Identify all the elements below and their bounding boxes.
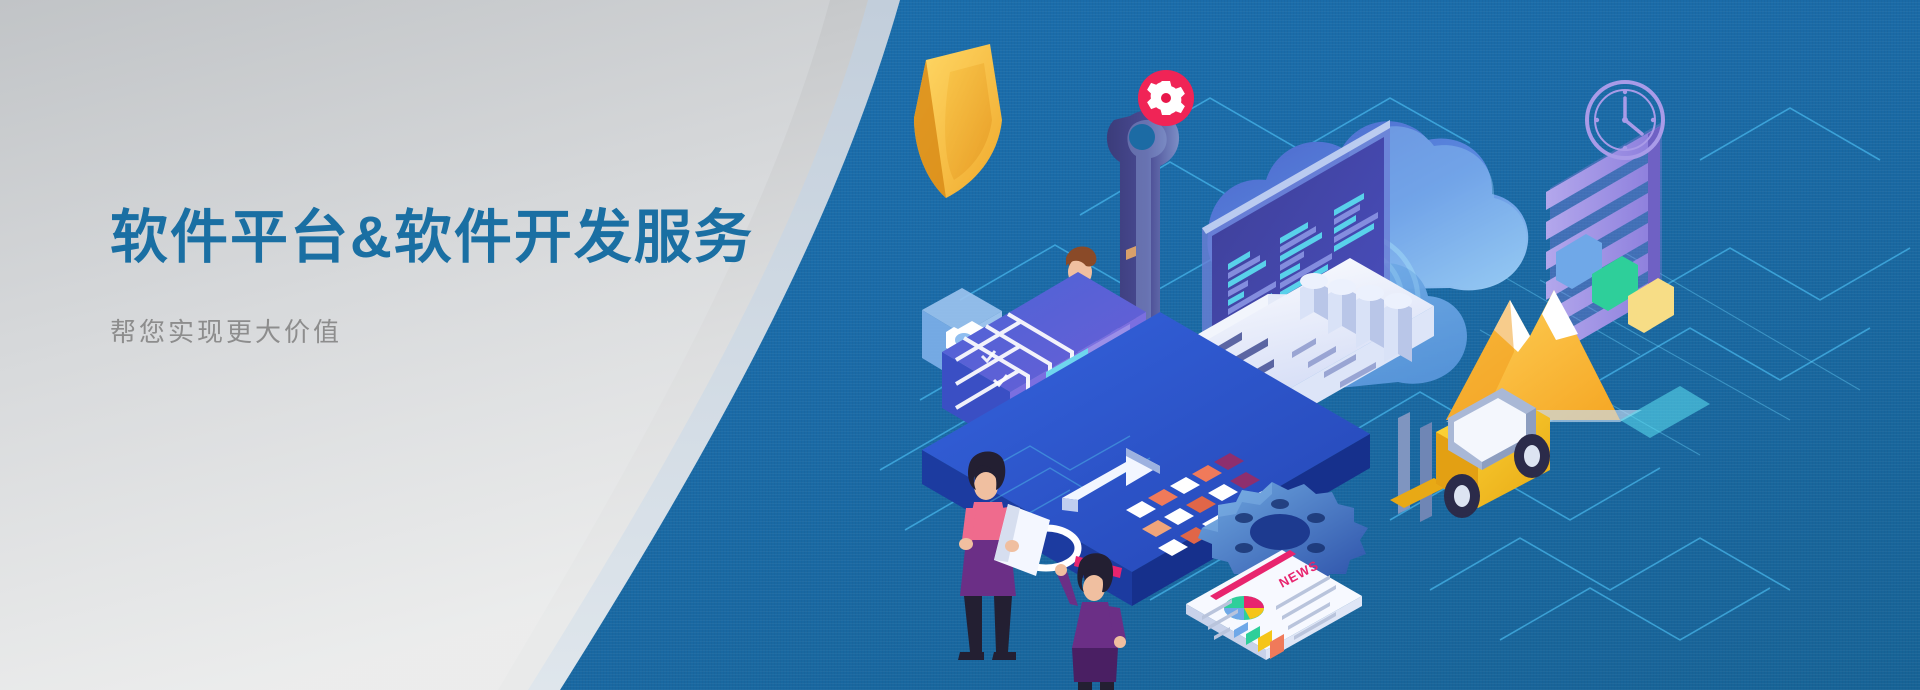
hero-text-block: 软件平台&软件开发服务 帮您实现更大价值: [110, 205, 754, 349]
hero-illustration: NEWS: [830, 0, 1920, 690]
yellow-forklift: [1390, 388, 1550, 522]
page-title: 软件平台&软件开发服务: [110, 205, 754, 272]
settings-gear-badge: [1138, 70, 1194, 126]
shield-icon: [914, 44, 1002, 198]
hero-banner: 软件平台&软件开发服务 帮您实现更大价值: [0, 0, 1920, 690]
clock-icon: [1587, 82, 1663, 158]
page-subtitle: 帮您实现更大价值: [110, 312, 754, 349]
